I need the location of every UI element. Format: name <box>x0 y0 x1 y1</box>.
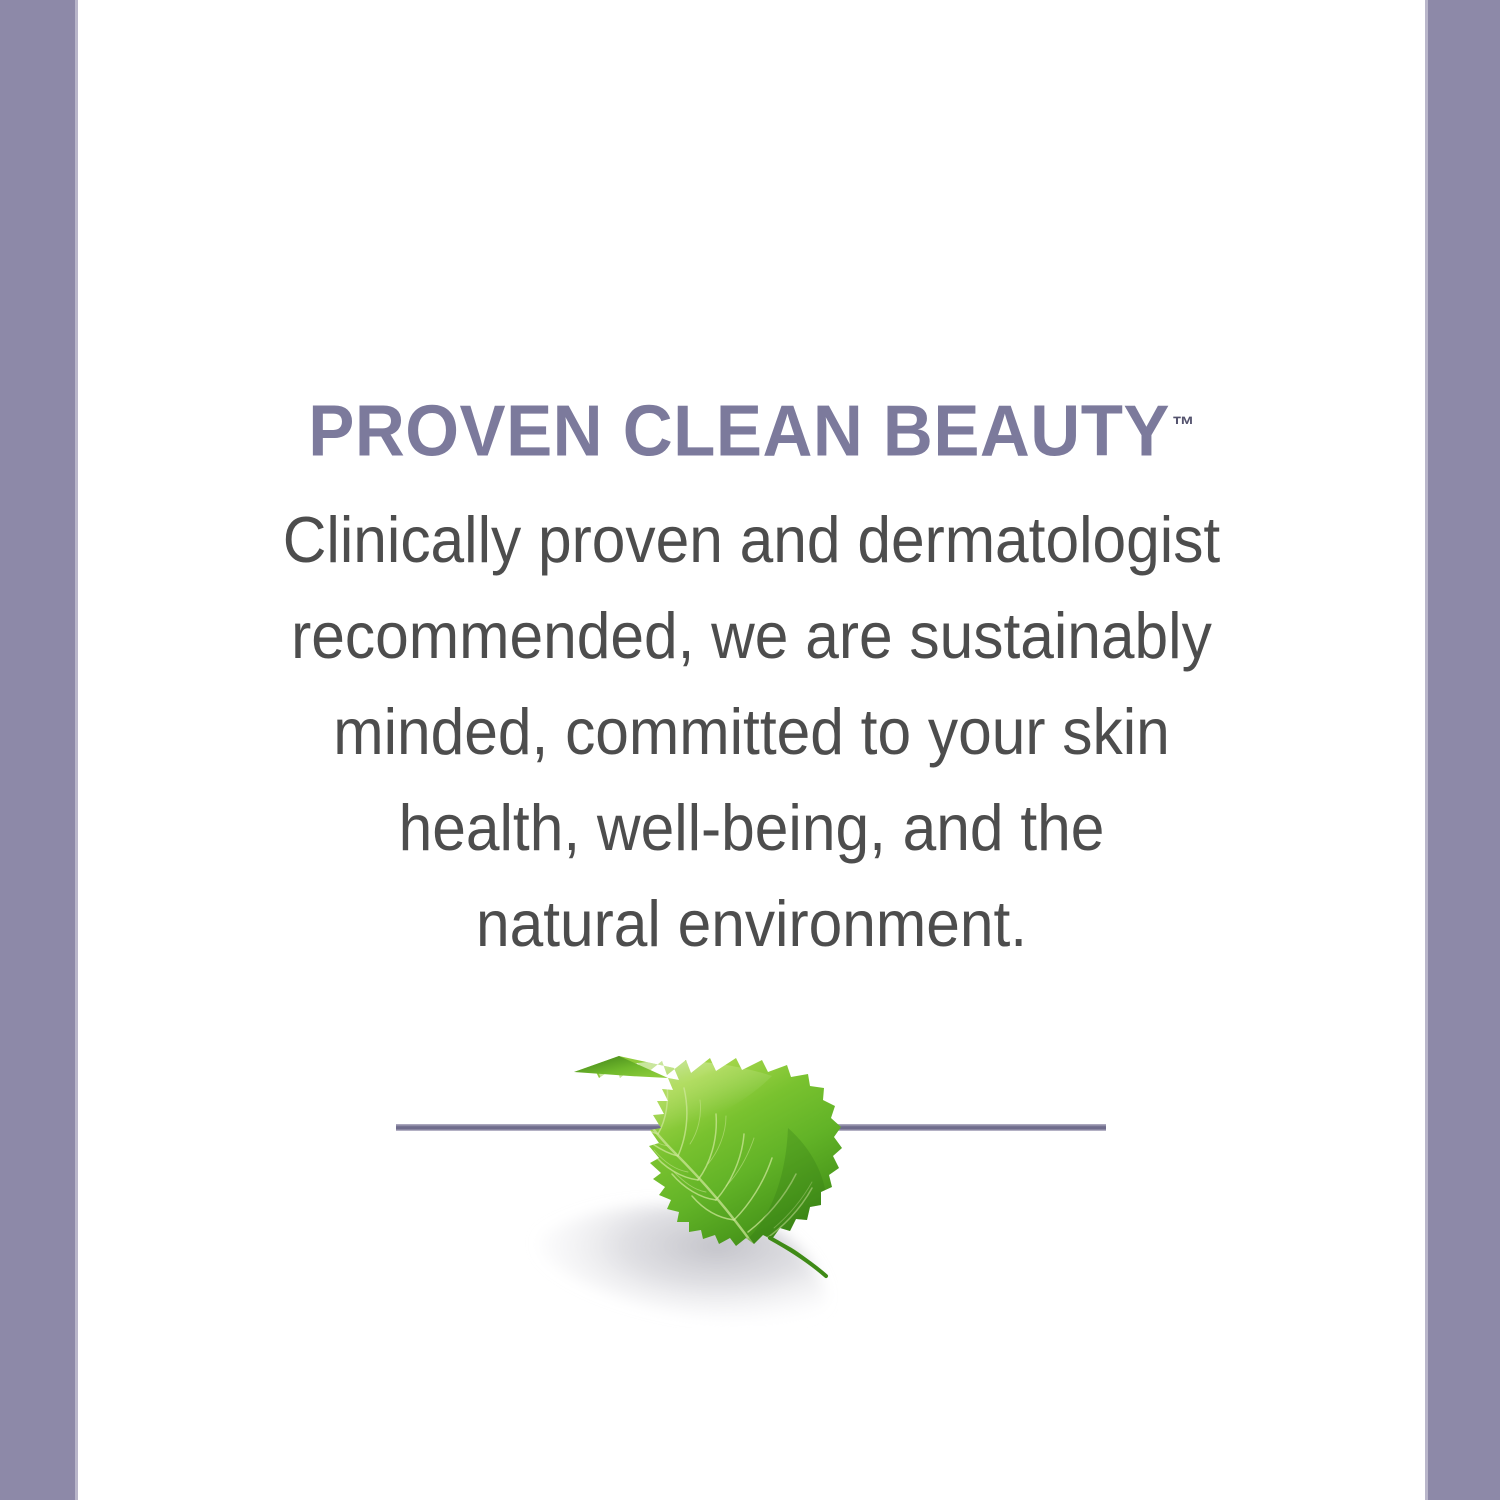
right-band-seam <box>1425 0 1428 1500</box>
trademark-symbol: ™ <box>1172 412 1195 439</box>
promo-card: PROVEN CLEAN BEAUTY™ Clinically proven a… <box>0 0 1500 1500</box>
body-line-5: natural environment. <box>144 876 1360 972</box>
leaf-emblem <box>78 1020 1425 1360</box>
left-purple-band <box>0 0 75 1500</box>
page-title: PROVEN CLEAN BEAUTY™ <box>105 384 1398 474</box>
right-purple-band <box>1428 0 1500 1500</box>
body-line-4: health, well-being, and the <box>144 780 1360 876</box>
green-leaf-icon <box>558 1032 878 1282</box>
page-title-text: PROVEN CLEAN BEAUTY <box>308 392 1170 472</box>
content-column: PROVEN CLEAN BEAUTY™ Clinically proven a… <box>78 0 1425 1500</box>
body-line-1: Clinically proven and dermatologist <box>144 492 1360 588</box>
body-line-2: recommended, we are sustainably <box>144 588 1360 684</box>
body-line-3: minded, committed to your skin <box>144 684 1360 780</box>
body-paragraph: Clinically proven and dermatologist reco… <box>98 492 1405 972</box>
